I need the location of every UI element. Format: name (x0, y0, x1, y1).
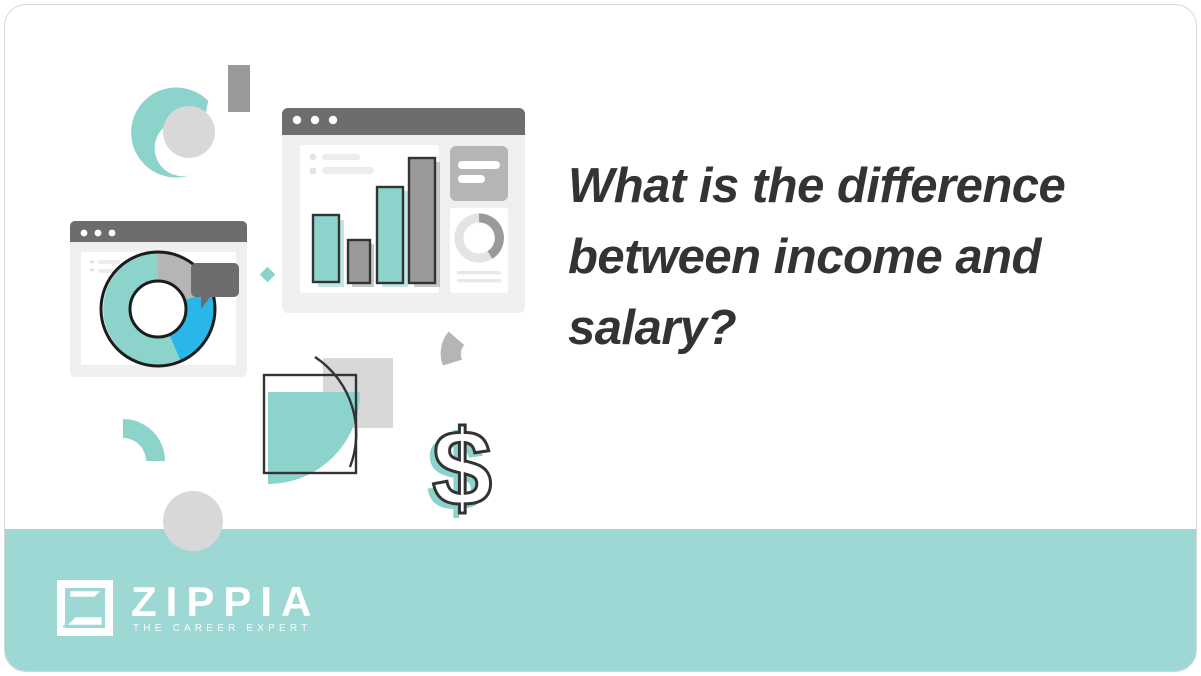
gray-arc-wedge (433, 328, 469, 366)
window-dot (81, 230, 88, 237)
browser-window-pie (70, 221, 247, 377)
zippia-z-mark (53, 576, 117, 640)
window-dot (311, 116, 319, 124)
page-title: What is the difference between income an… (568, 151, 1158, 364)
zippia-tagline: THE CAREER EXPERT (133, 623, 311, 634)
browser-window-dashboard (282, 108, 525, 313)
teal-diamond (260, 267, 276, 283)
teal-quarter-disc (268, 392, 360, 484)
window-dot (329, 116, 337, 124)
gray-rect-top (228, 65, 250, 112)
gray-info-card (450, 146, 508, 201)
window-dot (109, 230, 116, 237)
gray-circle-bottom (163, 491, 223, 551)
teal-quarter-arc (123, 419, 165, 461)
window-dot (95, 230, 102, 237)
analytics-dashboard-illustration: $ $ (5, 5, 565, 565)
dollar-sign: $ $ (426, 407, 492, 533)
svg-text:$: $ (432, 407, 492, 528)
window-dot (293, 116, 301, 124)
zippia-wordmark: ZIPPIA (131, 579, 320, 625)
zippia-logo[interactable]: ZIPPIA THE CAREER EXPERT (53, 573, 303, 645)
donut-chart-small (450, 208, 508, 293)
gray-circle-top (163, 106, 215, 158)
poster-card: $ $ What is the difference between incom… (4, 4, 1197, 672)
